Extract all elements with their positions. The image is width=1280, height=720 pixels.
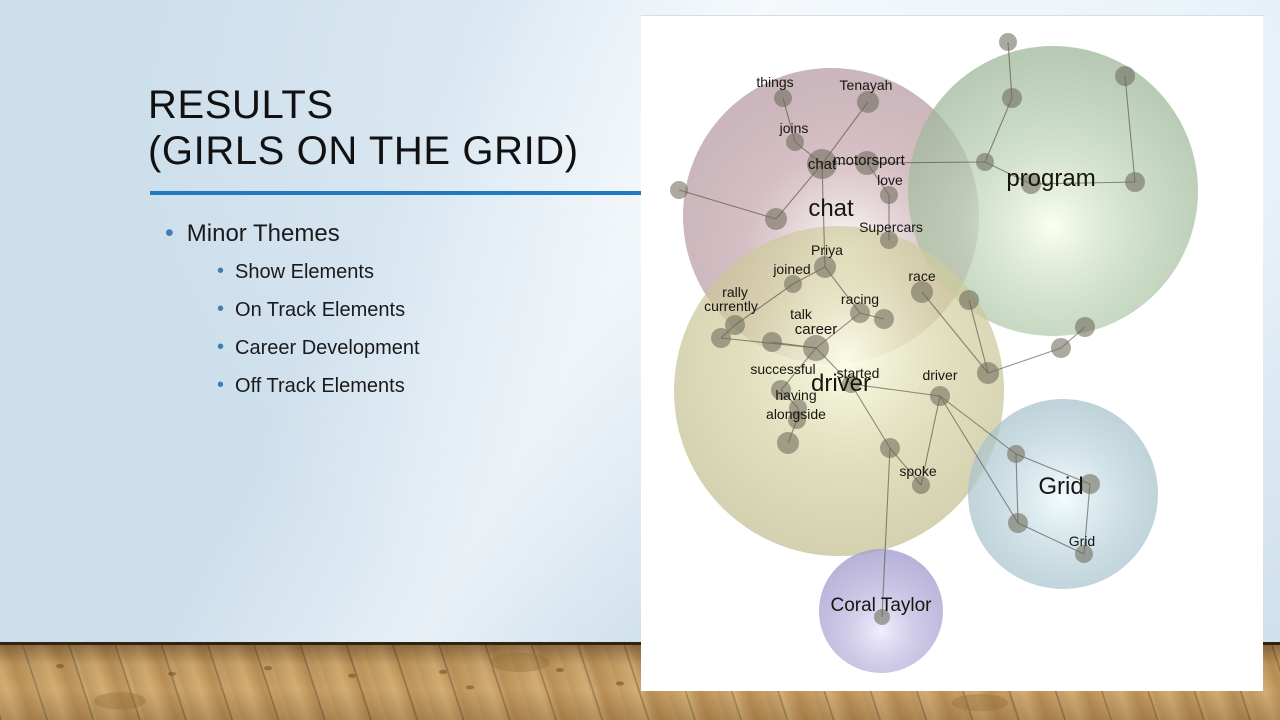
node-driver-r [930, 386, 950, 406]
bullet-level2-label: Career Development [235, 334, 420, 362]
node-label-having: having [775, 387, 816, 403]
bullet-list: • Minor Themes • Show Elements • On Trac… [165, 218, 645, 410]
node-label-grid-n: Grid [1069, 533, 1095, 549]
cluster-network-image: chatprogramdriverGridCoral Taylor things… [641, 15, 1263, 691]
bullet-dot-icon: • [217, 334, 224, 360]
node-label-joined: joined [772, 261, 810, 277]
node-left-b [765, 208, 787, 230]
node-label-driver-r: driver [922, 367, 957, 383]
node-label-race: race [908, 268, 935, 284]
node-label-spoke: spoke [899, 463, 937, 479]
node-tenayah [857, 91, 879, 113]
node-g3 [976, 153, 994, 171]
node-g10 [1075, 317, 1095, 337]
node-g7 [959, 290, 979, 310]
node-grid-top [1007, 445, 1025, 463]
node-g5 [1115, 66, 1135, 86]
bullet-level2-item: • Off Track Elements [217, 372, 645, 400]
node-things [774, 89, 792, 107]
node-love [880, 186, 898, 204]
node-label-started: started [837, 365, 880, 381]
bullet-level2-label: On Track Elements [235, 296, 405, 324]
title-line-1: RESULTS [148, 82, 642, 128]
node-label-supercars: Supercars [859, 219, 923, 235]
bullet-level1: • Minor Themes [165, 218, 645, 250]
node-g2 [1002, 88, 1022, 108]
node-label-alongside: alongside [766, 406, 826, 422]
node-talk [762, 332, 782, 352]
node-race [911, 281, 933, 303]
bullet-level1-label: Minor Themes [187, 218, 340, 250]
node-mid-olive [880, 438, 900, 458]
bullet-dot-icon: • [217, 258, 224, 284]
node-currently [711, 328, 731, 348]
cluster-network-svg: chatprogramdriverGridCoral Taylor things… [641, 16, 1263, 691]
node-label-motorsport: motorsport [833, 152, 906, 169]
bullet-level2-label: Off Track Elements [235, 372, 405, 400]
node-label-career: career [795, 321, 838, 338]
bullet-level2-item: • Show Elements [217, 258, 645, 286]
node-g6 [1125, 172, 1145, 192]
cluster-bubbles [674, 46, 1198, 673]
node-label-love: love [877, 172, 903, 188]
node-label-successful: successful [750, 361, 815, 377]
bullet-level2-item: • On Track Elements [217, 296, 645, 324]
node-career [803, 335, 829, 361]
node-label-talk: talk [790, 306, 813, 322]
title-line-2: (GIRLS ON THE GRID) [148, 128, 642, 174]
node-label-priya: Priya [811, 242, 843, 258]
bullet-level2-item: • Career Development [217, 334, 645, 362]
node-label-tenayah: Tenayah [840, 77, 893, 93]
cluster-label-program: program [1006, 165, 1095, 192]
cluster-label-coral-taylor: Coral Taylor [830, 595, 932, 616]
node-joined [784, 275, 802, 293]
node-racing2 [874, 309, 894, 329]
cluster-label-grid: Grid [1038, 473, 1083, 500]
node-label-joins: joins [779, 120, 809, 136]
node-label-currently: currently [704, 298, 758, 314]
title-underline-rule [150, 191, 642, 195]
node-left-a [670, 181, 688, 199]
node-g9 [1051, 338, 1071, 358]
node-label-racing: racing [841, 291, 879, 307]
node-g1 [999, 33, 1017, 51]
node-grid-left [1008, 513, 1028, 533]
cluster-label-chat: chat [808, 195, 854, 222]
bullet-dot-icon: • [217, 372, 224, 398]
node-g8 [977, 362, 999, 384]
page-title: RESULTS (GIRLS ON THE GRID) [148, 82, 642, 174]
bullet-dot-icon: • [217, 296, 224, 322]
bullet-level2-label: Show Elements [235, 258, 374, 286]
node-label-things: things [756, 74, 793, 90]
node-below-al [777, 432, 799, 454]
bullet-dot-icon: • [165, 218, 174, 248]
node-priya [814, 256, 836, 278]
